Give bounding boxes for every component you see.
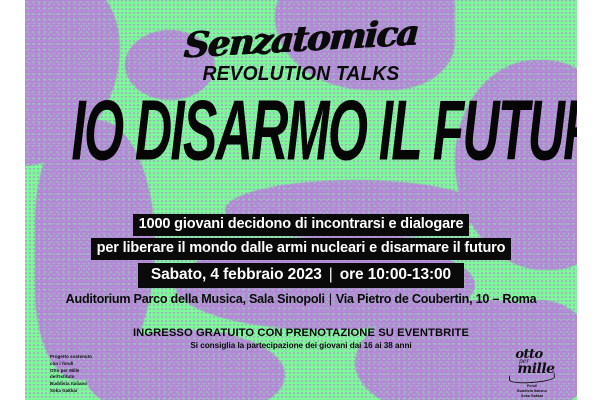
- otto-per-mille-logo: otto per mille Fondi Buddista Italiano S…: [499, 348, 565, 394]
- credit-line: con i fondi: [50, 361, 92, 368]
- statement-block: 1000 giovani decidono di incontrarsi e d…: [25, 214, 577, 262]
- otto-per-mille-footer: Fondi Buddista Italiano Soka Gakkai: [499, 384, 565, 400]
- event-date: Sabato, 4 febbraio 2023: [151, 266, 322, 283]
- venue-separator: |: [325, 292, 336, 306]
- credit-line: dell'Istituto: [50, 374, 92, 381]
- datetime-banner: Sabato, 4 febbraio 2023|ore 10:00-13:00: [138, 263, 464, 288]
- credit-line: Soka Gakkai: [50, 388, 92, 395]
- poster-content: Senzatomica REVOLUTION TALKS IO DISARMO …: [25, 0, 577, 400]
- statement-line-2-row: per liberare il mondo dalle armi nuclear…: [25, 238, 577, 260]
- booking-block: INGRESSO GRATUITO CON PRENOTAZIONE SU EV…: [25, 327, 577, 350]
- datetime-separator: |: [322, 266, 340, 284]
- brand-subtitle: REVOLUTION TALKS: [36, 63, 566, 86]
- statement-line-1: 1000 giovani decidono di incontrarsi e d…: [133, 214, 470, 236]
- event-poster: Senzatomica REVOLUTION TALKS IO DISARMO …: [25, 0, 577, 400]
- venue-place: Auditorium Parco della Musica, Sala Sino…: [66, 292, 325, 306]
- datetime-block: Sabato, 4 febbraio 2023|ore 10:00-13:00: [25, 263, 577, 288]
- booking-headline: INGRESSO GRATUITO CON PRENOTAZIONE SU EV…: [25, 327, 577, 339]
- credit-line: Buddista Italiano: [50, 381, 92, 388]
- venue-block: Auditorium Parco della Musica, Sala Sino…: [25, 292, 577, 306]
- statement-line-1-row: 1000 giovani decidono di incontrarsi e d…: [25, 214, 577, 236]
- credit-line: Progetto sostenuto: [50, 354, 92, 361]
- sponsor-credit: Progetto sostenuto con i fondi Otto per …: [50, 354, 92, 395]
- venue-address: Via Pietro de Coubertin, 10 – Roma: [336, 292, 537, 306]
- page-title: IO DISARMO IL FUTURO: [71, 92, 530, 173]
- swoosh-icon: [509, 372, 556, 384]
- otto-per-mille-footer-line: Soka Gakkai: [499, 394, 565, 399]
- statement-line-2: per liberare il mondo dalle armi nuclear…: [91, 238, 512, 260]
- credit-line: Otto per Mille: [50, 368, 92, 375]
- poster-frame: Senzatomica REVOLUTION TALKS IO DISARMO …: [0, 0, 600, 400]
- event-time: ore 10:00-13:00: [340, 266, 451, 283]
- otto-per-mille-wordmark: otto per mille: [499, 348, 565, 376]
